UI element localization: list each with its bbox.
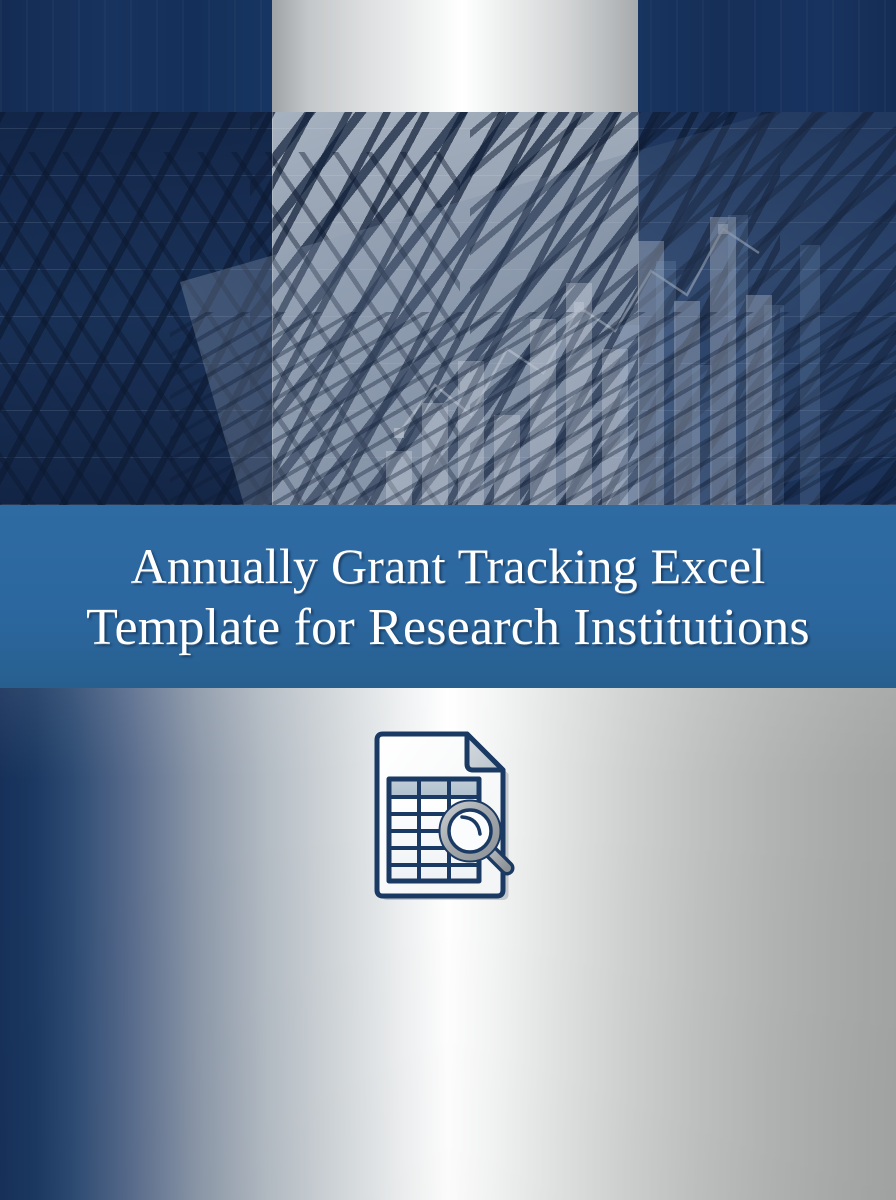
spreadsheet-document-search-icon [366,728,526,908]
hero-image [0,0,896,505]
photo-panel-seam [638,112,639,505]
photo-panel-seam [272,112,273,505]
silver-band-top [272,0,638,112]
page-title-line-1: Annually Grant Tracking Excel [131,535,766,597]
folded-corner-icon [467,734,503,770]
ebook-cover: Annually Grant Tracking Excel Template f… [0,0,896,1200]
page-title-line-2: Template for Research Institutions [86,597,810,659]
title-band: Annually Grant Tracking Excel Template f… [0,505,896,688]
architecture-photo [0,112,896,505]
